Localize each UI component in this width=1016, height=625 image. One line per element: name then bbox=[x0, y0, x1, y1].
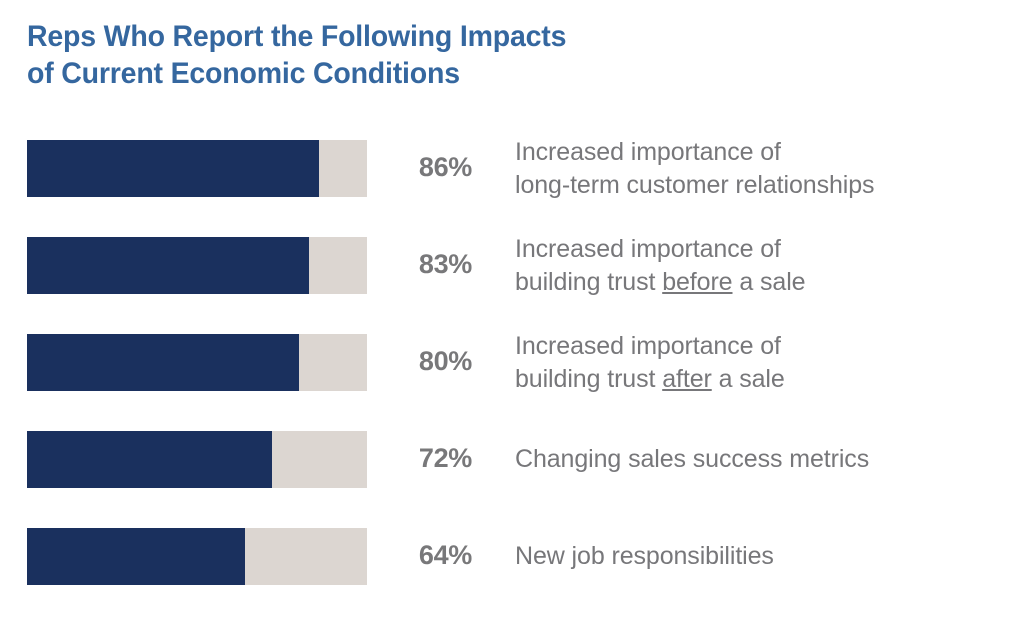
bar-fill bbox=[27, 431, 272, 488]
bar-label-line: long-term customer relationships bbox=[515, 171, 874, 199]
bar-value-label: 83% bbox=[372, 249, 472, 280]
bar-value-label: 64% bbox=[372, 540, 472, 571]
bar-row: 86%Increased importance oflong-term cust… bbox=[0, 140, 1016, 237]
chart-title: Reps Who Report the Following Impacts of… bbox=[27, 18, 806, 92]
bar-label-line: Increased importance of bbox=[515, 332, 781, 360]
bar-value-label: 80% bbox=[372, 346, 472, 377]
bar-value-label: 72% bbox=[372, 443, 472, 474]
emphasis-underline: before bbox=[662, 268, 732, 296]
bar-row: 83%Increased importance ofbuilding trust… bbox=[0, 237, 1016, 334]
bar-track bbox=[27, 528, 367, 585]
bar-label-line: building trust before a sale bbox=[515, 268, 805, 296]
bar-row: 64%New job responsibilities bbox=[0, 528, 1016, 625]
bar-track bbox=[27, 431, 367, 488]
bar-track bbox=[27, 237, 367, 294]
chart-container: Reps Who Report the Following Impacts of… bbox=[0, 0, 1016, 614]
bar-fill bbox=[27, 334, 299, 391]
bar-fill bbox=[27, 237, 309, 294]
bar-row: 80%Increased importance ofbuilding trust… bbox=[0, 334, 1016, 431]
bar-fill bbox=[27, 528, 245, 585]
bar-track bbox=[27, 140, 367, 197]
bar-category-label: Increased importance ofbuilding trust be… bbox=[515, 233, 1010, 299]
bar-label-line: Increased importance of bbox=[515, 138, 781, 166]
bar-label-line: building trust after a sale bbox=[515, 365, 785, 393]
bar-category-label: New job responsibilities bbox=[515, 540, 1010, 573]
bar-track bbox=[27, 334, 367, 391]
bar-value-label: 86% bbox=[372, 152, 472, 183]
emphasis-underline: after bbox=[662, 365, 712, 393]
bar-category-label: Increased importance ofbuilding trust af… bbox=[515, 330, 1010, 396]
bar-label-line: New job responsibilities bbox=[515, 542, 774, 570]
bar-category-label: Changing sales success metrics bbox=[515, 443, 1010, 476]
bar-category-label: Increased importance oflong-term custome… bbox=[515, 136, 1010, 202]
bar-label-line: Increased importance of bbox=[515, 235, 781, 263]
bar-rows-container: 86%Increased importance oflong-term cust… bbox=[0, 140, 1016, 625]
bar-fill bbox=[27, 140, 319, 197]
bar-label-line: Changing sales success metrics bbox=[515, 445, 869, 473]
bar-row: 72%Changing sales success metrics bbox=[0, 431, 1016, 528]
